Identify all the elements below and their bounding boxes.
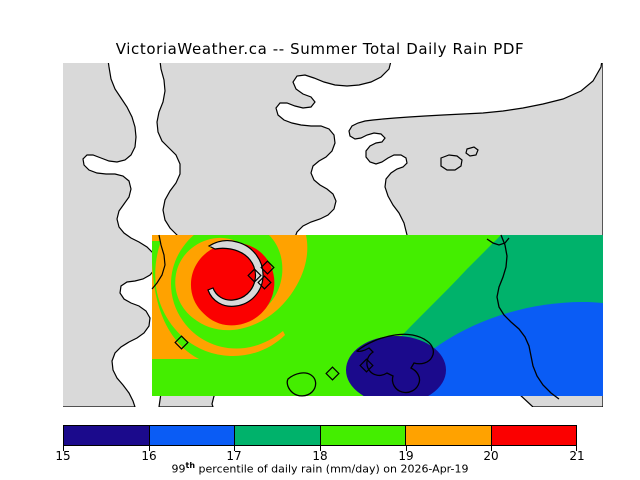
- weather-map-figure: VictoriaWeather.ca -- Summer Total Daily…: [0, 0, 640, 480]
- island-northeast-small: [466, 147, 478, 156]
- contour-band-15-16: [346, 336, 446, 404]
- caption-text: percentile of daily rain (mm/day) on 202…: [195, 463, 468, 476]
- colorbar-band-0[interactable]: [64, 426, 149, 445]
- contour-field: [152, 220, 603, 404]
- colorbar[interactable]: [63, 425, 577, 446]
- colorbar-band-3[interactable]: [320, 426, 406, 445]
- colorbar-caption: 99th percentile of daily rain (mm/day) o…: [0, 461, 640, 476]
- caption-number: 99: [172, 463, 186, 476]
- caption-ordinal-suffix: th: [186, 461, 196, 470]
- map-panel[interactable]: [63, 63, 603, 407]
- figure-title: VictoriaWeather.ca -- Summer Total Daily…: [0, 40, 640, 58]
- map-canvas[interactable]: [63, 63, 603, 407]
- colorbar-bands[interactable]: [63, 425, 577, 446]
- colorbar-band-1[interactable]: [149, 426, 235, 445]
- island-northeast: [441, 155, 462, 170]
- colorbar-band-4[interactable]: [405, 426, 491, 445]
- colorbar-band-2[interactable]: [234, 426, 320, 445]
- colorbar-band-5[interactable]: [491, 426, 577, 445]
